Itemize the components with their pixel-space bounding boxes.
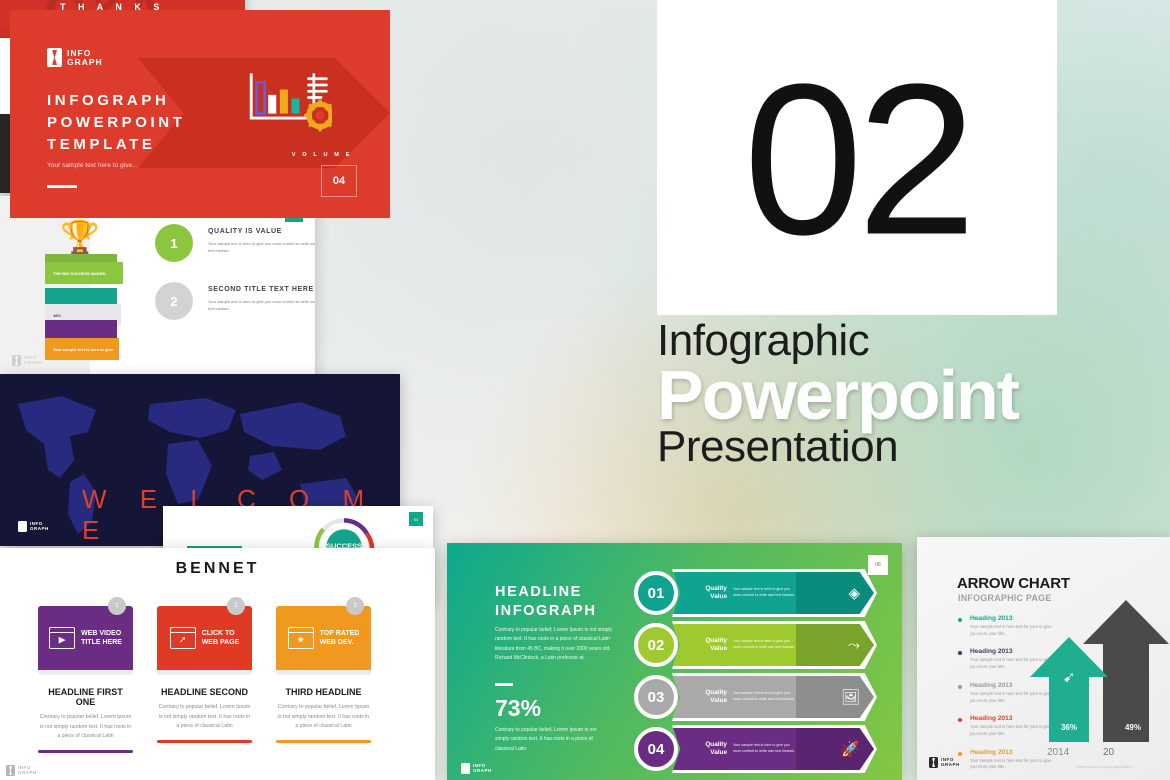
brand-logo: INFO GRAPH — [461, 763, 492, 774]
bullet-dot-icon — [958, 651, 962, 655]
list-item: Heading 2013 Your sample text is here te… — [958, 615, 1055, 637]
card-head: 2 ➚ CLICK TOWEB PAGE — [157, 606, 252, 670]
row-number: 01 — [634, 571, 678, 615]
quality-body-1: Your sample text is here to give you mor… — [208, 241, 315, 255]
card-bar — [38, 750, 133, 753]
node-graph-icon: ⤳ — [848, 637, 860, 654]
brand-name: INFO GRAPH — [18, 766, 37, 775]
card-body: Contrary to popular belief, Lorem Ipsum … — [157, 703, 252, 732]
row-bar: QualityValue Your sample text is here to… — [669, 572, 874, 614]
red-rule — [47, 185, 77, 188]
row-bar: QualityValue Your sample text is here to… — [669, 676, 874, 718]
card-label: CLICK TOWEB PAGE — [202, 629, 240, 647]
step-circle-2: 2 — [155, 282, 193, 320]
row-title: QualityValue — [685, 741, 727, 757]
row-bar-outline: QualityValue Your sample text is here to… — [672, 673, 877, 721]
green-body2: Contrary to popular belief, Lorem Ipsum … — [495, 726, 610, 754]
brand-logo: INFO GRAPH — [18, 521, 49, 532]
hero-line2: Powerpoint — [657, 360, 1127, 430]
brand-name: INFO GRAPH — [24, 356, 43, 365]
row-text: Your sample text is here to give you mor… — [733, 587, 795, 599]
list-item: Heading 2013 Your sample text is here te… — [958, 749, 1055, 771]
infograph-mark-icon — [461, 763, 470, 774]
arrow-percent: 36% — [1030, 723, 1108, 732]
list-item[interactable]: 02 QualityValue Your sample text is here… — [634, 621, 877, 669]
row-title: QualityValue — [685, 585, 727, 601]
image-icon: 🖼 — [841, 688, 860, 706]
rocket-icon: 🚀 — [841, 740, 860, 758]
list-item[interactable]: 01 QualityValue Your sample text is here… — [634, 569, 877, 617]
row-text: Your sample text is here to give you mor… — [733, 639, 795, 651]
card-label: TOP RATEDWEB DEV. — [320, 629, 360, 647]
card-heading: THIRD HEADLINE — [276, 687, 371, 697]
green-heading: HEADLINE INFOGRAPH — [495, 583, 596, 621]
card-shadow — [157, 670, 252, 675]
arrow-year-2014: 2014 — [1047, 747, 1069, 758]
card-head: 3 ★ TOP RATEDWEB DEV. — [276, 606, 371, 670]
slide-headline-infograph[interactable]: 06 HEADLINE INFOGRAPH Contrary to popula… — [447, 543, 902, 780]
legend-body: Your sample text is here text for your t… — [970, 758, 1055, 771]
brand-logo: INFO GRAPH — [929, 757, 960, 768]
slide-quality-is-value[interactable]: 05 🏆 CEO AWARD THE BIG SUCCESS AWARD 48%… — [0, 196, 315, 378]
green-heading-line2: INFOGRAPH — [495, 603, 596, 619]
bullet-dot-icon — [958, 752, 962, 756]
green-body: Contrary to popular belief, Lorem Ipsum … — [495, 626, 620, 663]
infograph-mark-icon — [47, 48, 62, 67]
bar-chart-gear-icon — [242, 68, 332, 136]
brand-line2: GRAPH — [941, 762, 960, 767]
brand-name: INFO GRAPH — [30, 522, 49, 531]
brand-name: INFO GRAPH — [941, 758, 960, 767]
hero-line3: Presentation — [657, 424, 1127, 470]
cursor-click-icon: ➹ — [1063, 668, 1076, 686]
arrow-subtitle: INFOGRAPHIC PAGE — [958, 593, 1052, 603]
arrow-bar-teal: ➹ 36% — [1030, 637, 1108, 742]
card-shadow — [276, 670, 371, 675]
row-text: Your sample text is here to give you mor… — [733, 691, 795, 703]
red-title: INFOGRAPHPOWERPOINTTEMPLATE — [47, 90, 186, 155]
infograph-mark-icon — [12, 355, 21, 366]
card-head: 1 ▶ WEB VIDEOTITLE HERE — [38, 606, 133, 670]
arrow-year-2015: 20 — [1103, 747, 1114, 758]
bennet-title: BENNET — [0, 560, 435, 578]
brand-line2: GRAPH — [24, 360, 43, 365]
row-text: Your sample text is here to give you mor… — [733, 743, 795, 755]
step-circle-1: 1 — [155, 224, 193, 262]
row-title: QualityValue — [685, 689, 727, 705]
brand-line2: GRAPH — [30, 526, 49, 531]
card-shadow — [38, 670, 133, 675]
bullet-dot-icon — [958, 718, 962, 722]
row-title: QualityValue — [685, 637, 727, 653]
bennet-card-list: 1 ▶ WEB VIDEOTITLE HERE HEADLINE FIRST O… — [38, 606, 371, 753]
list-item[interactable]: 04 QualityValue Your sample text is here… — [634, 725, 877, 773]
row-bar: QualityValue Your sample text is here to… — [669, 728, 874, 770]
web-video-icon: ▶ — [49, 627, 75, 649]
row-bar-outline: QualityValue Your sample text is here to… — [672, 621, 877, 669]
brand-logo: INFO GRAPH — [47, 48, 103, 67]
page-badge: 04 — [409, 512, 423, 526]
slide-infograph-title[interactable]: INFO GRAPH INFOGRAPHPOWERPOINTTEMPLATE Y… — [0, 0, 400, 228]
volume-number: 04 — [321, 165, 357, 197]
card-heading: HEADLINE SECOND — [157, 687, 252, 697]
list-item[interactable]: 03 QualityValue Your sample text is here… — [634, 673, 877, 721]
card-number: 1 — [108, 597, 126, 615]
card-body: Contrary to popular belief, Lorem Ipsum … — [38, 713, 133, 742]
hero-number-card: 02 — [657, 0, 1057, 315]
card-number: 2 — [227, 597, 245, 615]
brand-line2: GRAPH — [18, 770, 37, 775]
green-heading-line1: HEADLINE — [495, 584, 582, 600]
hero-title-block: Infographic Powerpoint Presentation — [657, 318, 1127, 470]
row-bar-outline: QualityValue Your sample text is here to… — [672, 569, 877, 617]
card-bar — [276, 740, 371, 743]
row-bar-outline: QualityValue Your sample text is here to… — [672, 725, 877, 773]
slide-bennet-cards[interactable]: BENNET 1 ▶ WEB VIDEOTITLE HERE HEADLINE … — [0, 548, 435, 780]
card-body: Contrary to popular belief, Lorem Ipsum … — [276, 703, 371, 732]
poster-canvas: Q&A T H A N K S 05 LAPTOP INFOGRA INFOGR… — [0, 0, 1170, 780]
row-number: 03 — [634, 675, 678, 719]
red-sample-text: Your sample text here to give... — [47, 162, 138, 169]
hero-number: 02 — [743, 52, 970, 267]
card-bar — [157, 740, 252, 743]
diamond-icon: ◈ — [848, 584, 860, 602]
bullet-dot-icon — [958, 618, 962, 622]
card-number: 3 — [346, 597, 364, 615]
row-number: 02 — [634, 623, 678, 667]
brand-name: INFO GRAPH — [473, 764, 492, 773]
arrow-footer: Lorem Ipsum is simply Ipsum has b — [1044, 764, 1164, 770]
infograph-mark-icon — [929, 757, 938, 768]
row-number: 04 — [634, 727, 678, 771]
bullet-dot-icon — [958, 685, 962, 689]
list-item[interactable]: 1 ▶ WEB VIDEOTITLE HERE HEADLINE FIRST O… — [38, 606, 133, 753]
ribbon: Your sample text is here to give — [45, 338, 119, 360]
quality-title-1: QUALITY IS VALUE — [208, 228, 282, 235]
ribbon: THE BIG SUCCESS AWARD — [45, 262, 123, 284]
brand-line2: GRAPH — [67, 57, 103, 67]
legend-body: Your sample text is here text for your t… — [970, 624, 1055, 637]
row-bar: QualityValue Your sample text is here to… — [669, 624, 874, 666]
list-item[interactable]: 3 ★ TOP RATEDWEB DEV. THIRD HEADLINE Con… — [276, 606, 371, 753]
volume-label: V O L U M E — [292, 152, 352, 158]
brand-logo: INFO GRAPH — [6, 765, 37, 776]
quality-body-2: Your sample text is here to give you mor… — [208, 299, 315, 313]
green-percent: 73% — [495, 695, 541, 722]
trophy-icon: 🏆 — [60, 218, 100, 256]
infograph-mark-icon — [18, 521, 27, 532]
brand-line2: GRAPH — [473, 768, 492, 773]
red-slide-inner: INFO GRAPH INFOGRAPHPOWERPOINTTEMPLATE Y… — [10, 10, 390, 218]
slide-arrow-chart[interactable]: ARROW CHART INFOGRAPHIC PAGE Heading 201… — [917, 537, 1170, 780]
legend-heading: Heading 2013 — [970, 749, 1055, 756]
cursor-click-icon: ➚ — [170, 627, 196, 649]
card-label: WEB VIDEOTITLE HERE — [81, 629, 122, 647]
green-row-list: 01 QualityValue Your sample text is here… — [634, 569, 877, 777]
green-rule — [495, 683, 513, 686]
list-item[interactable]: 2 ➚ CLICK TOWEB PAGE HEADLINE SECOND Con… — [157, 606, 252, 753]
infograph-mark-icon — [6, 765, 15, 776]
arrow-title: ARROW CHART — [957, 575, 1070, 592]
brand-name: INFO GRAPH — [67, 49, 103, 66]
quality-title-2: SECOND TITLE TEXT HERE — [208, 286, 314, 293]
brand-logo: INFO GRAPH — [12, 355, 43, 366]
card-heading: HEADLINE FIRST ONE — [38, 687, 133, 707]
legend-heading: Heading 2013 — [970, 615, 1055, 622]
bookmark-star-icon: ★ — [288, 627, 314, 649]
